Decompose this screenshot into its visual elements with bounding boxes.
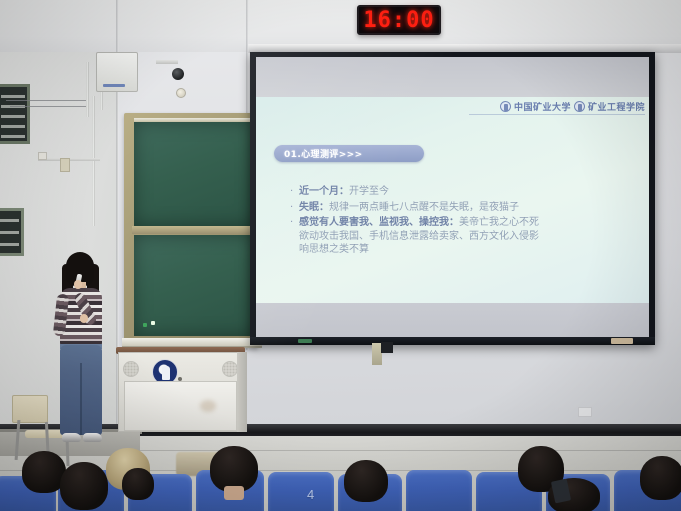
classroom-scene: 中国矿业大学 矿业工程学院 01.心理测评>>> · 近一个月：开学至今 · 失… — [0, 0, 681, 511]
slide-header-text: 01.心理测评>>> — [284, 147, 363, 160]
slide-logo-underline — [469, 114, 645, 115]
school-seal-icon — [574, 101, 585, 112]
clock-time: 16:00 — [363, 8, 434, 33]
speaker-grille-right-icon — [222, 361, 238, 377]
speaker-grille-left-icon — [123, 361, 139, 377]
slide-header-pill: 01.心理测评>>> — [274, 145, 424, 162]
slide-letterbox-bottom — [256, 303, 649, 338]
audience-head — [640, 456, 681, 500]
switch-plate — [38, 152, 47, 160]
shoe-right — [83, 433, 102, 442]
audience-seat — [406, 470, 472, 511]
wall-plate — [60, 158, 70, 172]
hand-holding-mic — [74, 280, 82, 289]
round-sensor-icon — [176, 88, 186, 98]
list-item: · 感觉有人要害我、监视我、操控我：美帝亡我之心不死欲动攻击我国、手机信息泄露给… — [290, 216, 540, 257]
slide-bullet-list: · 近一个月：开学至今 · 失眠：规律一两点睡七八点醒不是失眠，是夜猫子 · 感… — [290, 185, 540, 259]
wire-upper — [6, 100, 88, 101]
slide-content-area: 中国矿业大学 矿业工程学院 01.心理测评>>> · 近一个月：开学至今 · 失… — [256, 97, 649, 303]
chalkboard-lower-panel — [134, 235, 254, 336]
bullet-marker: · — [290, 185, 299, 199]
podium-smudge — [200, 400, 216, 412]
ceiling-speaker-icon — [172, 68, 184, 80]
conduit-vertical-b — [92, 96, 95, 226]
speaker — [52, 252, 110, 448]
projected-slide: 中国矿业大学 矿业工程学院 01.心理测评>>> · 近一个月：开学至今 · 失… — [256, 57, 649, 338]
bullet-lead: 失眠： — [299, 202, 329, 213]
chalkboard-upper-panel — [134, 122, 254, 226]
bullet-body: 失眠：规律一两点睡七八点醒不是失眠，是夜猫子 — [299, 201, 519, 215]
slide-letterbox-top — [256, 57, 649, 97]
conduit-bracket — [156, 60, 178, 64]
wooden-chair-back — [12, 395, 48, 423]
bullet-lead: 近一个月： — [299, 186, 349, 197]
shoe-left — [62, 433, 81, 442]
green-chalkboard — [124, 113, 258, 348]
bullet-marker: · — [290, 216, 299, 257]
bullet-body: 感觉有人要害我、监视我、操控我：美帝亡我之心不死欲动攻击我国、手机信息泄露给卖家… — [299, 216, 540, 257]
conduit-box-drop — [100, 92, 103, 110]
wall-control-box[interactable] — [96, 52, 138, 92]
electrical-panel-lower — [0, 208, 24, 256]
hand-lower — [80, 314, 88, 323]
bullet-lead: 感觉有人要害我、监视我、操控我： — [299, 217, 459, 228]
list-item: · 近一个月：开学至今 — [290, 185, 540, 199]
projector-sensor-icon — [381, 342, 393, 353]
screen-tab-green — [298, 339, 312, 343]
wire-lower — [10, 106, 88, 107]
bullet-body: 近一个月：开学至今 — [299, 185, 389, 199]
digital-wall-clock: 16:00 — [357, 5, 441, 35]
slide-logo-university: 中国矿业大学 — [514, 100, 571, 113]
chalkboard-divider-rail — [132, 226, 258, 234]
bullet-rest: 规律一两点睡七八点醒不是失眠，是夜猫子 — [329, 202, 519, 213]
podium-latch-icon[interactable] — [178, 377, 182, 381]
projection-screen: 中国矿业大学 矿业工程学院 01.心理测评>>> · 近一个月：开学至今 · 失… — [250, 52, 655, 345]
slide-logo-school: 矿业工程学院 — [588, 100, 645, 113]
podium-cabinet-door[interactable] — [124, 381, 237, 431]
seat-row-number: 4 — [307, 487, 314, 502]
bullet-marker: · — [290, 201, 299, 215]
wall-sticker — [578, 407, 592, 417]
audience-neck — [224, 486, 244, 500]
audience-head — [60, 462, 108, 510]
audience-seat — [268, 472, 334, 511]
list-item: · 失眠：规律一两点睡七八点醒不是失眠，是夜猫子 — [290, 201, 540, 215]
bullet-rest: 开学至今 — [349, 186, 389, 197]
audience-head — [122, 468, 154, 500]
screen-tab-right — [611, 338, 633, 344]
jeans — [60, 345, 102, 435]
electrical-panel — [0, 84, 30, 144]
university-seal-icon — [500, 101, 511, 112]
audience-head — [344, 460, 388, 502]
podium-side-panel — [237, 352, 247, 432]
screen-bottom-bar — [250, 337, 655, 345]
slide-logo: 中国矿业大学 矿业工程学院 — [500, 99, 645, 113]
conduit-vertical-a — [86, 62, 89, 117]
